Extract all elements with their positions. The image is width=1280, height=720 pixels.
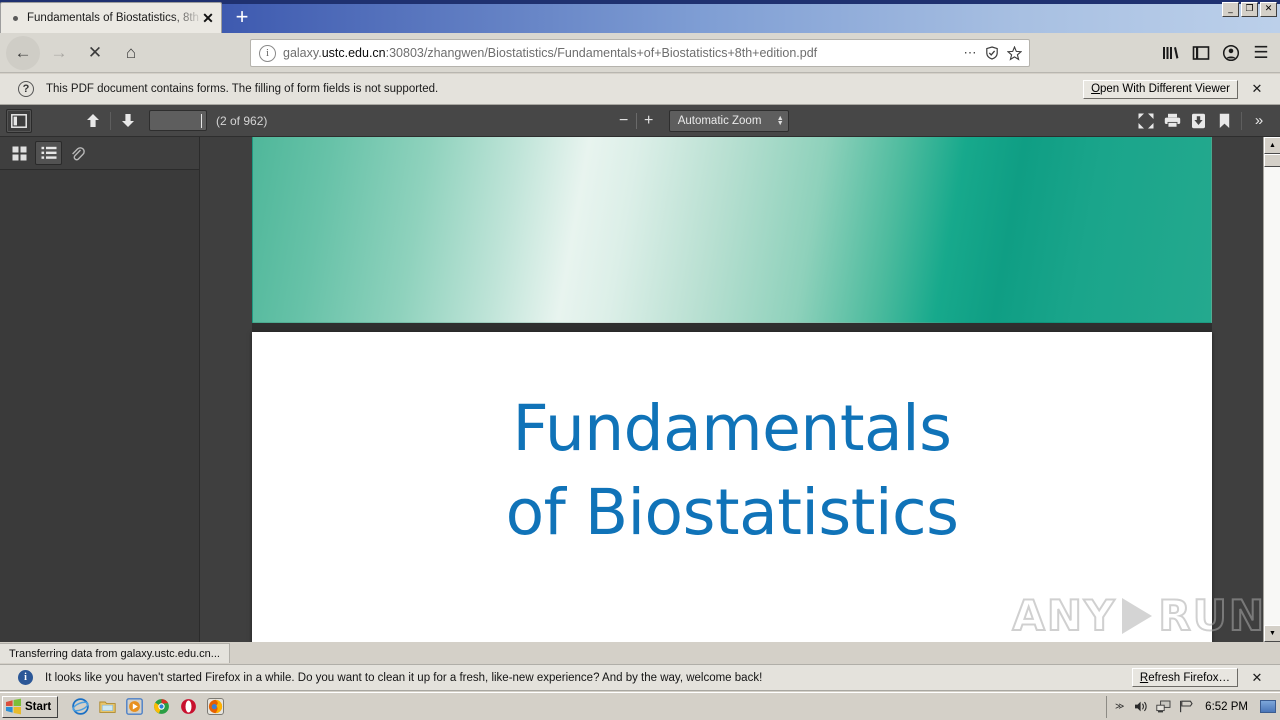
toolbar-divider (110, 112, 111, 130)
notification-close-button[interactable]: ✕ (1246, 78, 1268, 100)
file-explorer-icon[interactable] (99, 698, 116, 715)
zoom-out-button[interactable]: − (612, 109, 636, 133)
network-icon[interactable] (1156, 699, 1171, 714)
browser-window: Fundamentals of Biostatistics, 8th ✕ + _… (0, 0, 1280, 720)
refresh-firefox-notification-bar: i It looks like you haven't started Fire… (0, 664, 1280, 691)
start-label: Start (25, 701, 51, 713)
scroll-up-button[interactable]: ▲ (1264, 137, 1280, 154)
show-hidden-icons-button[interactable]: ≫ (1112, 699, 1127, 714)
restore-button[interactable]: ❐ (1241, 2, 1258, 17)
site-info-icon[interactable]: i (259, 45, 276, 62)
library-icon[interactable] (1156, 39, 1186, 67)
forward-button[interactable]: → (42, 36, 76, 70)
windows-logo-icon (5, 698, 22, 715)
page-separator (252, 323, 1212, 332)
back-button[interactable]: ← (6, 36, 40, 70)
bookmark-star-icon[interactable] (1003, 42, 1025, 64)
start-button[interactable]: Start (2, 696, 58, 718)
clock[interactable]: 6:52 PM (1205, 701, 1248, 713)
loading-spinner-icon (9, 12, 21, 24)
question-mark-icon: ? (18, 81, 34, 97)
status-bar: Transferring data from galaxy.ustc.edu.c… (0, 643, 230, 663)
book-title: Fundamentals of Biostatistics (252, 387, 1212, 555)
pdf-page-banner-image (252, 137, 1212, 323)
pdf-sidebar (0, 137, 200, 642)
refresh-button-label-rest: efresh Firefox… (1148, 672, 1230, 684)
chrome-icon[interactable] (153, 698, 170, 715)
book-title-line-2: of Biostatistics (252, 471, 1212, 555)
page-count-label: (2 of 962) (216, 114, 267, 128)
new-tab-button[interactable]: + (228, 3, 256, 30)
url-path: :30803/zhangwen/Biostatistics/Fundamenta… (386, 46, 818, 60)
url-text: galaxy.ustc.edu.cn:30803/zhangwen/Biosta… (283, 46, 959, 60)
attachments-tab-button[interactable] (64, 141, 91, 165)
zoom-level-value: Automatic Zoom (678, 115, 762, 127)
shield-icon[interactable] (981, 42, 1003, 64)
url-host: ustc.edu.cn (322, 46, 386, 60)
system-tray: ≫ 6:52 PM (1106, 696, 1258, 718)
button-label-rest: pen With Different Viewer (1100, 83, 1230, 95)
print-button[interactable] (1159, 109, 1185, 133)
sidebar-icon[interactable] (1186, 39, 1216, 67)
pdf-forms-notification-text: This PDF document contains forms. The fi… (46, 83, 1083, 95)
home-button[interactable]: ⌂ (114, 36, 148, 70)
info-icon: i (18, 670, 33, 685)
previous-page-button[interactable] (80, 109, 106, 133)
chevron-updown-icon: ▲▼ (777, 116, 784, 126)
browser-toolbar-right: ☰ (1156, 39, 1276, 67)
refresh-notification-text: It looks like you haven't started Firefo… (45, 672, 1132, 684)
internet-explorer-icon[interactable] (72, 698, 89, 715)
browser-tab[interactable]: Fundamentals of Biostatistics, 8th ✕ (0, 2, 222, 33)
accesskey-letter-refresh: R (1140, 672, 1148, 684)
secondary-toolbar-toggle[interactable]: » (1246, 109, 1272, 133)
page-number-input[interactable] (149, 110, 207, 131)
download-button[interactable] (1185, 109, 1211, 133)
accesskey-letter: O (1091, 83, 1100, 95)
refresh-firefox-button[interactable]: Refresh Firefox… (1132, 668, 1238, 687)
stop-button[interactable]: ✕ (78, 36, 112, 70)
vertical-scrollbar[interactable]: ▲ ▼ (1263, 137, 1280, 642)
refresh-notification-close-button[interactable]: ✕ (1246, 667, 1268, 689)
window-controls: _ ❐ ✕ (1222, 2, 1277, 17)
pdf-sidebar-tabs (0, 137, 199, 170)
open-with-different-viewer-button[interactable]: Open With Different Viewer (1083, 80, 1238, 99)
media-player-icon[interactable] (126, 698, 143, 715)
minimize-button[interactable]: _ (1222, 2, 1239, 17)
scrollbar-thumb[interactable] (1264, 154, 1280, 167)
scroll-down-button[interactable]: ▼ (1264, 625, 1280, 642)
bookmark-button[interactable] (1211, 109, 1237, 133)
book-title-line-1: Fundamentals (513, 392, 952, 465)
zoom-level-select[interactable]: Automatic Zoom ▲▼ (669, 110, 789, 132)
show-desktop-icon[interactable] (1260, 700, 1276, 713)
account-icon[interactable] (1216, 39, 1246, 67)
pdf-page-2: Fundamentals of Biostatistics (252, 332, 1212, 642)
close-window-button[interactable]: ✕ (1260, 2, 1277, 17)
tab-title: Fundamentals of Biostatistics, 8th (27, 12, 199, 24)
tab-strip: Fundamentals of Biostatistics, 8th ✕ + _… (0, 0, 1280, 33)
document-outline-tab-button[interactable] (35, 141, 62, 165)
zoom-controls: − + Automatic Zoom ▲▼ (612, 109, 789, 133)
opera-icon[interactable] (180, 698, 197, 715)
quick-launch-bar (72, 698, 224, 715)
app-menu-button[interactable]: ☰ (1246, 39, 1276, 67)
pdf-forms-notification-bar: ? This PDF document contains forms. The … (0, 74, 1280, 105)
url-prefix: galaxy. (283, 46, 322, 60)
tab-close-button[interactable]: ✕ (199, 9, 217, 27)
zoom-in-button[interactable]: + (637, 109, 661, 133)
pdf-page-viewport[interactable]: Fundamentals of Biostatistics ANY RUN (200, 137, 1280, 642)
firefox-icon[interactable] (207, 698, 224, 715)
presentation-mode-button[interactable] (1133, 109, 1159, 133)
pdf-viewer-toolbar: (2 of 962) − + Automatic Zoom ▲▼ » (0, 105, 1280, 137)
text-cursor (201, 114, 202, 128)
toolbar-divider-right (1241, 112, 1242, 130)
next-page-button[interactable] (115, 109, 141, 133)
volume-icon[interactable] (1134, 699, 1149, 714)
status-text: Transferring data from galaxy.ustc.edu.c… (9, 648, 220, 660)
windows-taskbar: Start ≫ (0, 692, 1280, 720)
address-bar[interactable]: i galaxy.ustc.edu.cn:30803/zhangwen/Bios… (250, 39, 1030, 67)
thumbnails-tab-button[interactable] (6, 141, 33, 165)
flag-icon[interactable] (1178, 699, 1193, 714)
sidebar-toggle-button[interactable] (6, 109, 32, 133)
page-actions-icon[interactable]: ⋯ (959, 42, 981, 64)
